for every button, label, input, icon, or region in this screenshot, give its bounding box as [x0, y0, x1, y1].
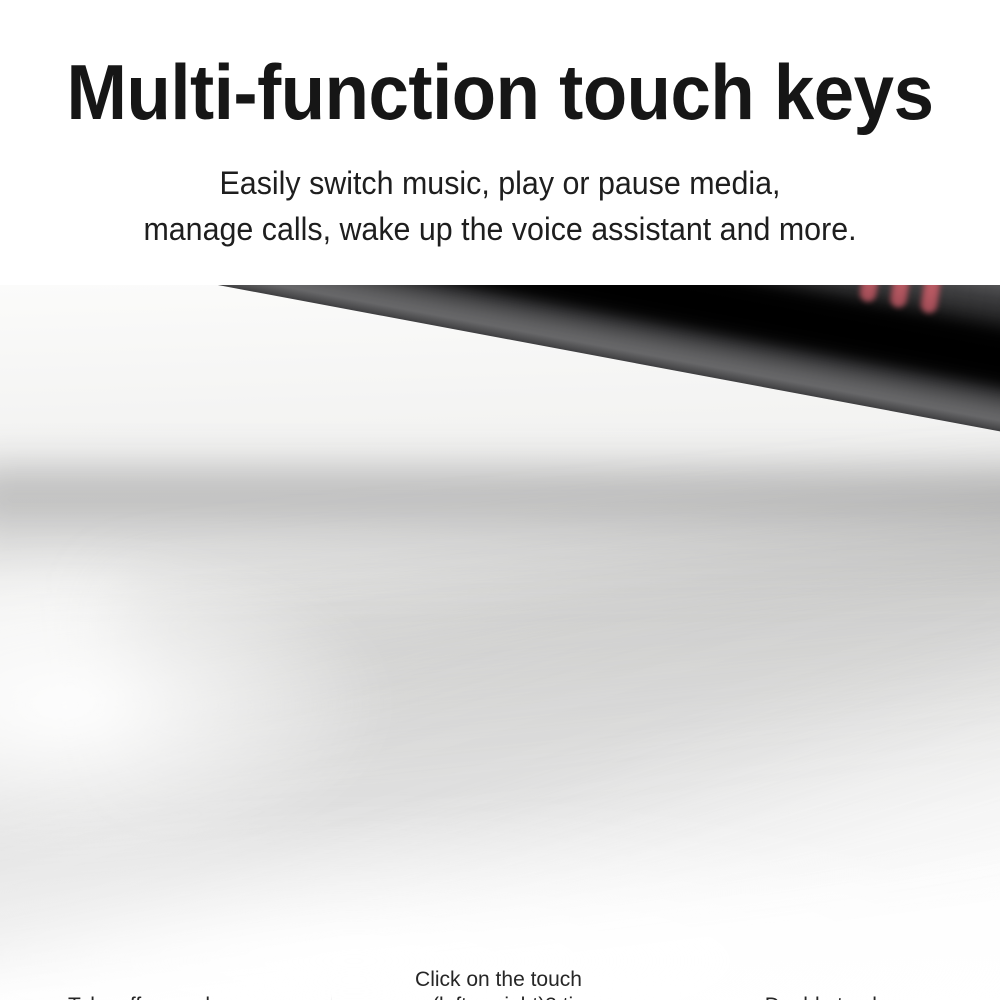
feature-cell: Take off your glasses Disconnect Bluetoo… — [0, 993, 333, 1000]
product-photo: Take off your glasses Disconnect Bluetoo… — [0, 285, 1000, 1000]
feature-cell: Double tap leg Phone answer, music chang… — [666, 993, 999, 1000]
led-indicator-icon — [858, 285, 882, 303]
page-title: Multi-function touch keys — [35, 50, 965, 134]
feature-action: Click on the touch area (left or right)3… — [332, 967, 665, 1000]
header-section: Multi-function touch keys Easily switch … — [0, 0, 1000, 285]
feature-action: Double tap leg — [666, 993, 999, 1000]
subtitle-line-2: manage calls, wake up the voice assistan… — [25, 206, 975, 252]
product-feature-page: Multi-function touch keys Easily switch … — [0, 0, 1000, 1000]
page-subtitle: Easily switch music, play or pause media… — [25, 160, 975, 252]
feature-cell: Click on the touch area (left or right)3… — [332, 967, 665, 1000]
product-image-temple-arm — [0, 285, 1000, 499]
touch-gesture-grid: Take off your glasses Disconnect Bluetoo… — [0, 955, 1000, 1000]
feature-action: Take off your glasses — [0, 993, 333, 1000]
led-indicator-icon — [919, 285, 943, 314]
product-body — [0, 285, 1000, 448]
led-indicator-icon — [889, 285, 913, 309]
subtitle-line-1: Easily switch music, play or pause media… — [25, 160, 975, 206]
